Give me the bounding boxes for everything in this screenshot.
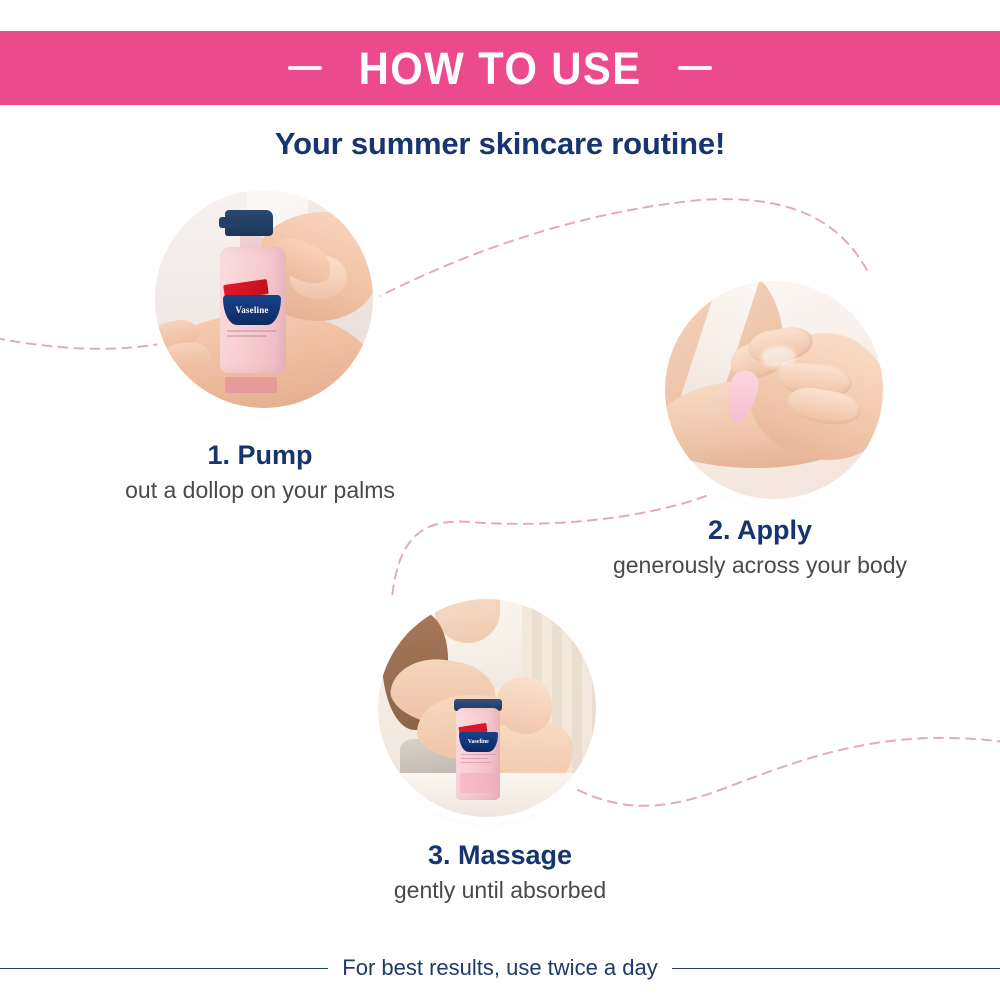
step-3-caption: 3. Massage gently until absorbed bbox=[280, 840, 720, 906]
step-2-image bbox=[665, 281, 883, 499]
step-1-label-footer-band bbox=[225, 377, 277, 392]
step-2-description: generously across your body bbox=[535, 551, 985, 581]
step-1-pump-spout bbox=[219, 217, 236, 228]
footer-left-rule bbox=[0, 968, 328, 969]
step-3-label-pink-panel bbox=[460, 773, 497, 793]
footer-text: For best results, use twice a day bbox=[340, 955, 659, 981]
step-2-photo-inner bbox=[665, 281, 883, 499]
step-1-caption: 1. Pump out a dollop on your palms bbox=[45, 440, 475, 506]
step-3-brand-logo: Vaseline bbox=[459, 732, 498, 752]
step-1-brand-logo: Vaseline bbox=[223, 295, 282, 326]
step-3-label-text-lines bbox=[461, 754, 496, 766]
step-3-image: Vaseline bbox=[378, 599, 596, 817]
step-3-description: gently until absorbed bbox=[280, 876, 720, 906]
step-3-photo-inner: Vaseline bbox=[378, 599, 596, 817]
step-1-image: Vaseline bbox=[155, 190, 373, 408]
step-3-title: 3. Massage bbox=[280, 840, 720, 871]
step-2-caption: 2. Apply generously across your body bbox=[535, 515, 985, 581]
step-3-brand-name: Vaseline bbox=[468, 739, 489, 745]
step-1-title: 1. Pump bbox=[45, 440, 475, 471]
poster-canvas: HOW TO USE Your summer skincare routine! bbox=[0, 0, 1000, 1000]
step-2-highlight bbox=[761, 346, 796, 368]
step-1-description: out a dollop on your palms bbox=[45, 476, 475, 506]
footer: For best results, use twice a day bbox=[0, 948, 1000, 988]
footer-right-rule bbox=[672, 968, 1000, 969]
step-2-title: 2. Apply bbox=[535, 515, 985, 546]
step-1-photo-inner: Vaseline bbox=[155, 190, 373, 408]
step-1-brand-name: Vaseline bbox=[235, 305, 268, 315]
step-1-label-text-lines bbox=[227, 330, 277, 352]
